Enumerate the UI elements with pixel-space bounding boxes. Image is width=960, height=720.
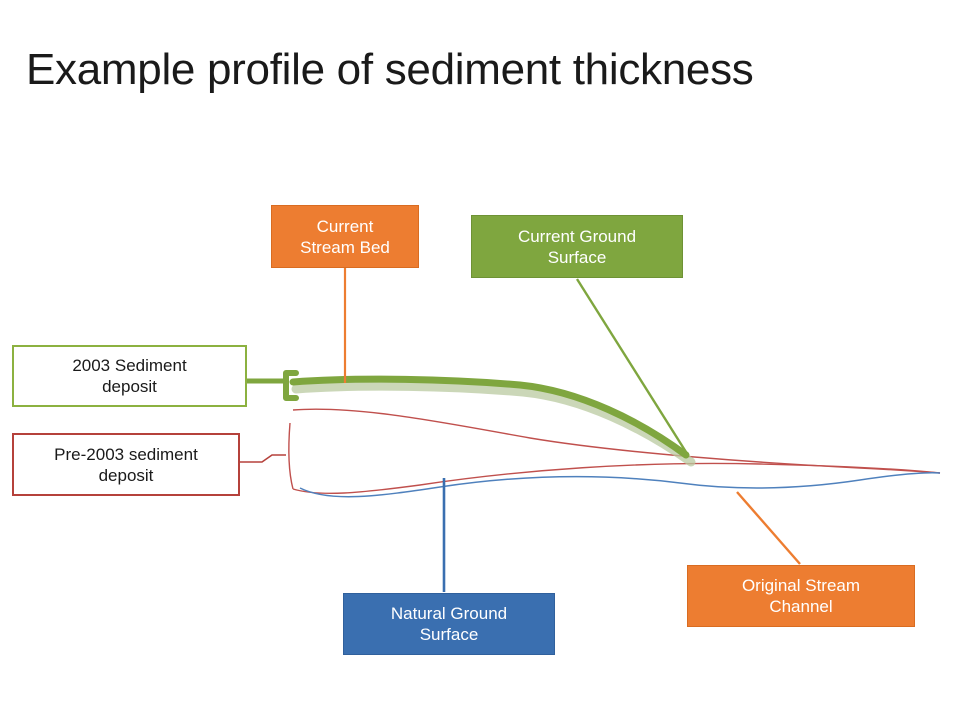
callout-original-stream-line2: Channel (742, 596, 860, 617)
leader-original-stream-channel (737, 492, 800, 564)
callout-pre-2003-sediment-text: Pre-2003 sediment deposit (54, 444, 198, 486)
callout-current-ground-surface-line2: Surface (518, 247, 636, 268)
callout-2003-sediment-line1: 2003 Sediment (72, 355, 186, 376)
callout-current-stream-bed-line1: Current (300, 216, 390, 237)
callout-original-stream-text: Original Stream Channel (742, 575, 860, 617)
callout-current-ground-surface-text: Current Ground Surface (518, 226, 636, 268)
callout-current-ground-surface[interactable]: Current Ground Surface (471, 215, 683, 278)
callout-current-ground-surface-line1: Current Ground (518, 226, 636, 247)
callout-pre-2003-sediment-line1: Pre-2003 sediment (54, 444, 198, 465)
callout-current-stream-bed[interactable]: Current Stream Bed (271, 205, 419, 268)
callout-pre-2003-sediment-deposit[interactable]: Pre-2003 sediment deposit (12, 433, 240, 496)
callout-natural-ground-line1: Natural Ground (391, 603, 507, 624)
callout-2003-sediment-text: 2003 Sediment deposit (72, 355, 186, 397)
callout-current-stream-bed-text: Current Stream Bed (300, 216, 390, 258)
callout-pre-2003-sediment-line2: deposit (54, 465, 198, 486)
callout-natural-ground-line2: Surface (391, 624, 507, 645)
callout-natural-ground-text: Natural Ground Surface (391, 603, 507, 645)
pre-2003-sediment-bottom-line (293, 463, 940, 493)
pre-2003-sediment-left-line (289, 423, 293, 489)
slide-canvas: Example profile of sediment thickness Cu… (0, 0, 960, 720)
callout-original-stream-channel[interactable]: Original Stream Channel (687, 565, 915, 627)
callout-original-stream-line1: Original Stream (742, 575, 860, 596)
natural-ground-surface-line (300, 473, 940, 497)
callout-current-stream-bed-line2: Stream Bed (300, 237, 390, 258)
callout-2003-sediment-deposit[interactable]: 2003 Sediment deposit (12, 345, 247, 407)
pre-2003-leader-bracket (240, 455, 286, 462)
callout-2003-sediment-line2: deposit (72, 376, 186, 397)
callout-natural-ground-surface[interactable]: Natural Ground Surface (343, 593, 555, 655)
